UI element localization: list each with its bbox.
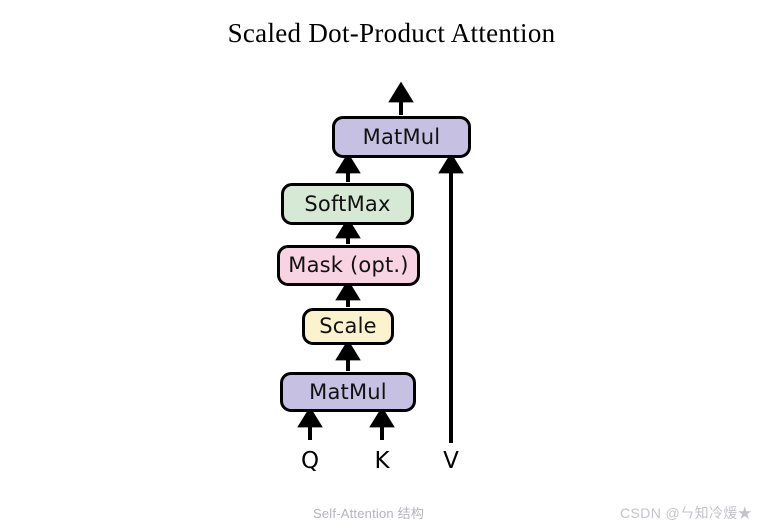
input-label-q: Q bbox=[290, 450, 330, 473]
input-label-k: K bbox=[362, 450, 402, 473]
node-matmul-top[interactable]: MatMul bbox=[332, 116, 471, 158]
node-matmul-bottom[interactable]: MatMul bbox=[280, 372, 416, 412]
watermark-text: CSDN @ㄣ知冷煖★ bbox=[620, 503, 752, 523]
attention-diagram: MatMul SoftMax Mask (opt.) Scale MatMul … bbox=[0, 0, 783, 531]
node-scale[interactable]: Scale bbox=[302, 308, 394, 345]
input-label-v: V bbox=[431, 450, 471, 473]
figure-caption: Self-Attention 结构 bbox=[313, 503, 424, 522]
node-softmax[interactable]: SoftMax bbox=[281, 183, 414, 225]
node-mask[interactable]: Mask (opt.) bbox=[277, 245, 420, 286]
figure-canvas: Scaled Dot-Product Attention bbox=[0, 0, 783, 531]
